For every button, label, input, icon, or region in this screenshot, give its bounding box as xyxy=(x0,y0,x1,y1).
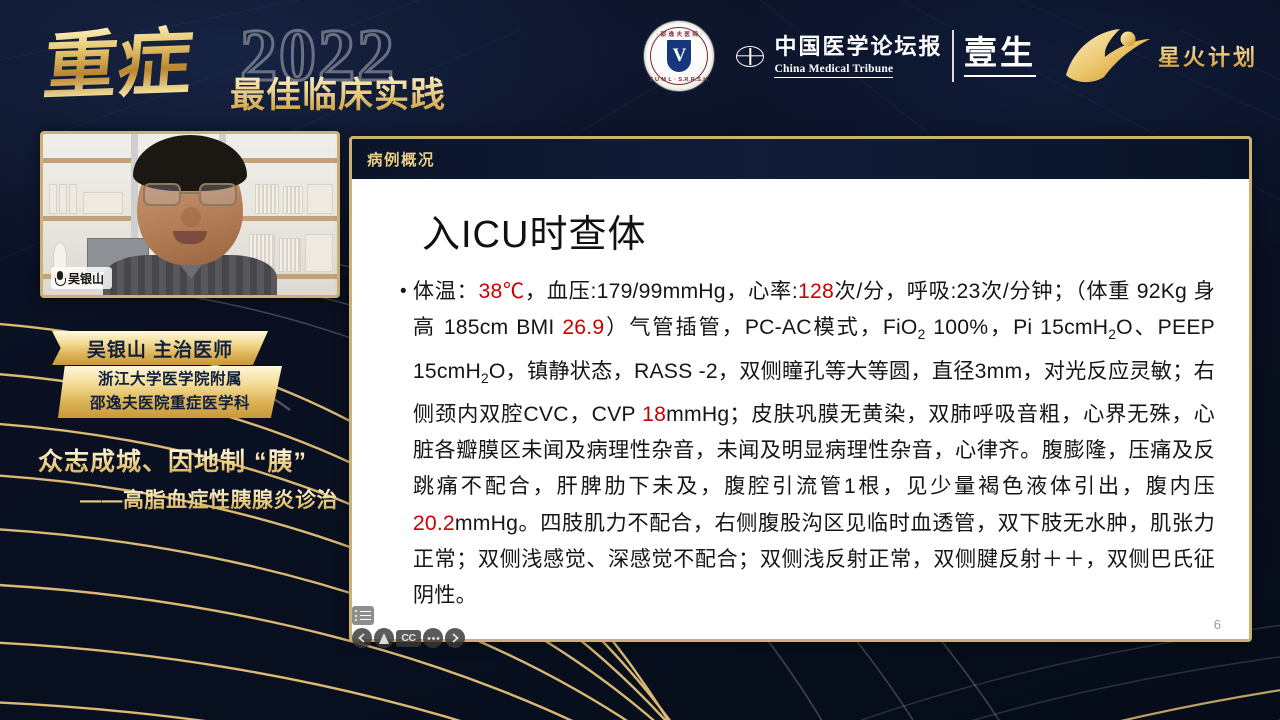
talk-title-block: 众志成城、因地制 “胰” ——高脂血症性胰腺炎诊治 xyxy=(38,445,338,514)
glasses-icon xyxy=(143,183,237,207)
slide-section-label: 病例概况 xyxy=(367,148,435,170)
previous-slide-button[interactable] xyxy=(352,628,372,648)
pen-icon[interactable] xyxy=(374,628,394,648)
yisheng-logo: 壹生 xyxy=(964,35,1036,77)
microphone-icon xyxy=(55,271,64,285)
header-logo-group: · 邵 逸 夫 医 院 · V Z U M L · S.R.R.S.H. 中国医… xyxy=(644,16,1258,96)
slide-bullet-item: • 体温：38℃，血压:179/99mmHg，心率:128次/分，呼吸:23次/… xyxy=(400,274,1215,614)
highlighted-value: 20.2 xyxy=(413,512,455,535)
speaker-org-ribbon: 浙江大学医学院附属 邵逸夫医院重症医学科 xyxy=(58,366,282,418)
slide-body: 入ICU时查体 • 体温：38℃，血压:179/99mmHg，心率:128次/分… xyxy=(352,179,1249,642)
highlighted-value: 18 xyxy=(642,403,666,426)
talk-subtitle: ——高脂血症性胰腺炎诊治 xyxy=(38,484,338,514)
slide-title: 入ICU时查体 xyxy=(422,203,1215,258)
seal-arc-bottom-text: Z U M L · S.R.R.S.H. xyxy=(649,77,709,83)
highlighted-value: 26.9 xyxy=(562,316,604,339)
bullet-marker: • xyxy=(400,274,407,614)
slide-frame[interactable]: 病例概况 入ICU时查体 • 体温：38℃，血压:179/99mmHg，心率:1… xyxy=(349,136,1252,642)
hospital-seal-logo: · 邵 逸 夫 医 院 · V Z U M L · S.R.R.S.H. xyxy=(644,21,714,91)
logo-divider xyxy=(952,30,954,82)
flying-figure-icon xyxy=(1058,25,1154,87)
speaker-org-line-2: 邵逸夫医院重症医学科 xyxy=(90,392,250,416)
seal-arc-top-text: · 邵 逸 夫 医 院 · xyxy=(656,30,702,38)
cmt-chinese-name: 中国医学论坛报 xyxy=(774,35,942,59)
presentation-controls[interactable]: CC xyxy=(352,606,465,648)
slide-list-icon[interactable] xyxy=(352,606,374,625)
closed-captions-button[interactable]: CC xyxy=(396,630,421,647)
china-medical-tribune-logo: 中国医学论坛报 China Medical Tribune 壹生 xyxy=(736,30,1036,82)
xinghuo-plan-logo: 星火计划 xyxy=(1058,25,1258,87)
video-nametag: 吴银山 xyxy=(51,267,112,289)
speaker-video-panel[interactable]: 吴银山 xyxy=(40,131,340,298)
slide-body-text: 体温：38℃，血压:179/99mmHg，心率:128次/分，呼吸:23次/分钟… xyxy=(413,274,1215,614)
speaker-figure xyxy=(115,133,265,298)
event-title-sub: 最佳临床实践 xyxy=(230,67,446,118)
cmt-english-name: China Medical Tribune xyxy=(774,63,893,78)
slide-page-number: 6 xyxy=(1214,617,1221,632)
event-title-block: 2022 重症 最佳临床实践 xyxy=(44,12,464,116)
video-nametag-label: 吴银山 xyxy=(68,270,104,287)
playback-control-row[interactable]: CC xyxy=(352,628,465,648)
more-options-button[interactable] xyxy=(423,628,443,648)
talk-title: 众志成城、因地制 “胰” xyxy=(38,445,338,479)
seal-shield: V xyxy=(665,38,693,74)
speaker-org-line-1: 浙江大学医学院附属 xyxy=(98,368,242,392)
event-title-main: 重症 xyxy=(40,21,196,108)
highlighted-value: 128 xyxy=(798,280,834,303)
slide-section-header: 病例概况 xyxy=(352,139,1249,179)
xinghuo-label: 星火计划 xyxy=(1158,40,1258,72)
highlighted-value: 38℃ xyxy=(479,280,525,303)
next-slide-button[interactable] xyxy=(445,628,465,648)
speaker-name-ribbon: 吴银山 主治医师 xyxy=(52,331,268,365)
globe-icon xyxy=(736,46,764,67)
speaker-name-label: 吴银山 主治医师 xyxy=(87,335,233,362)
